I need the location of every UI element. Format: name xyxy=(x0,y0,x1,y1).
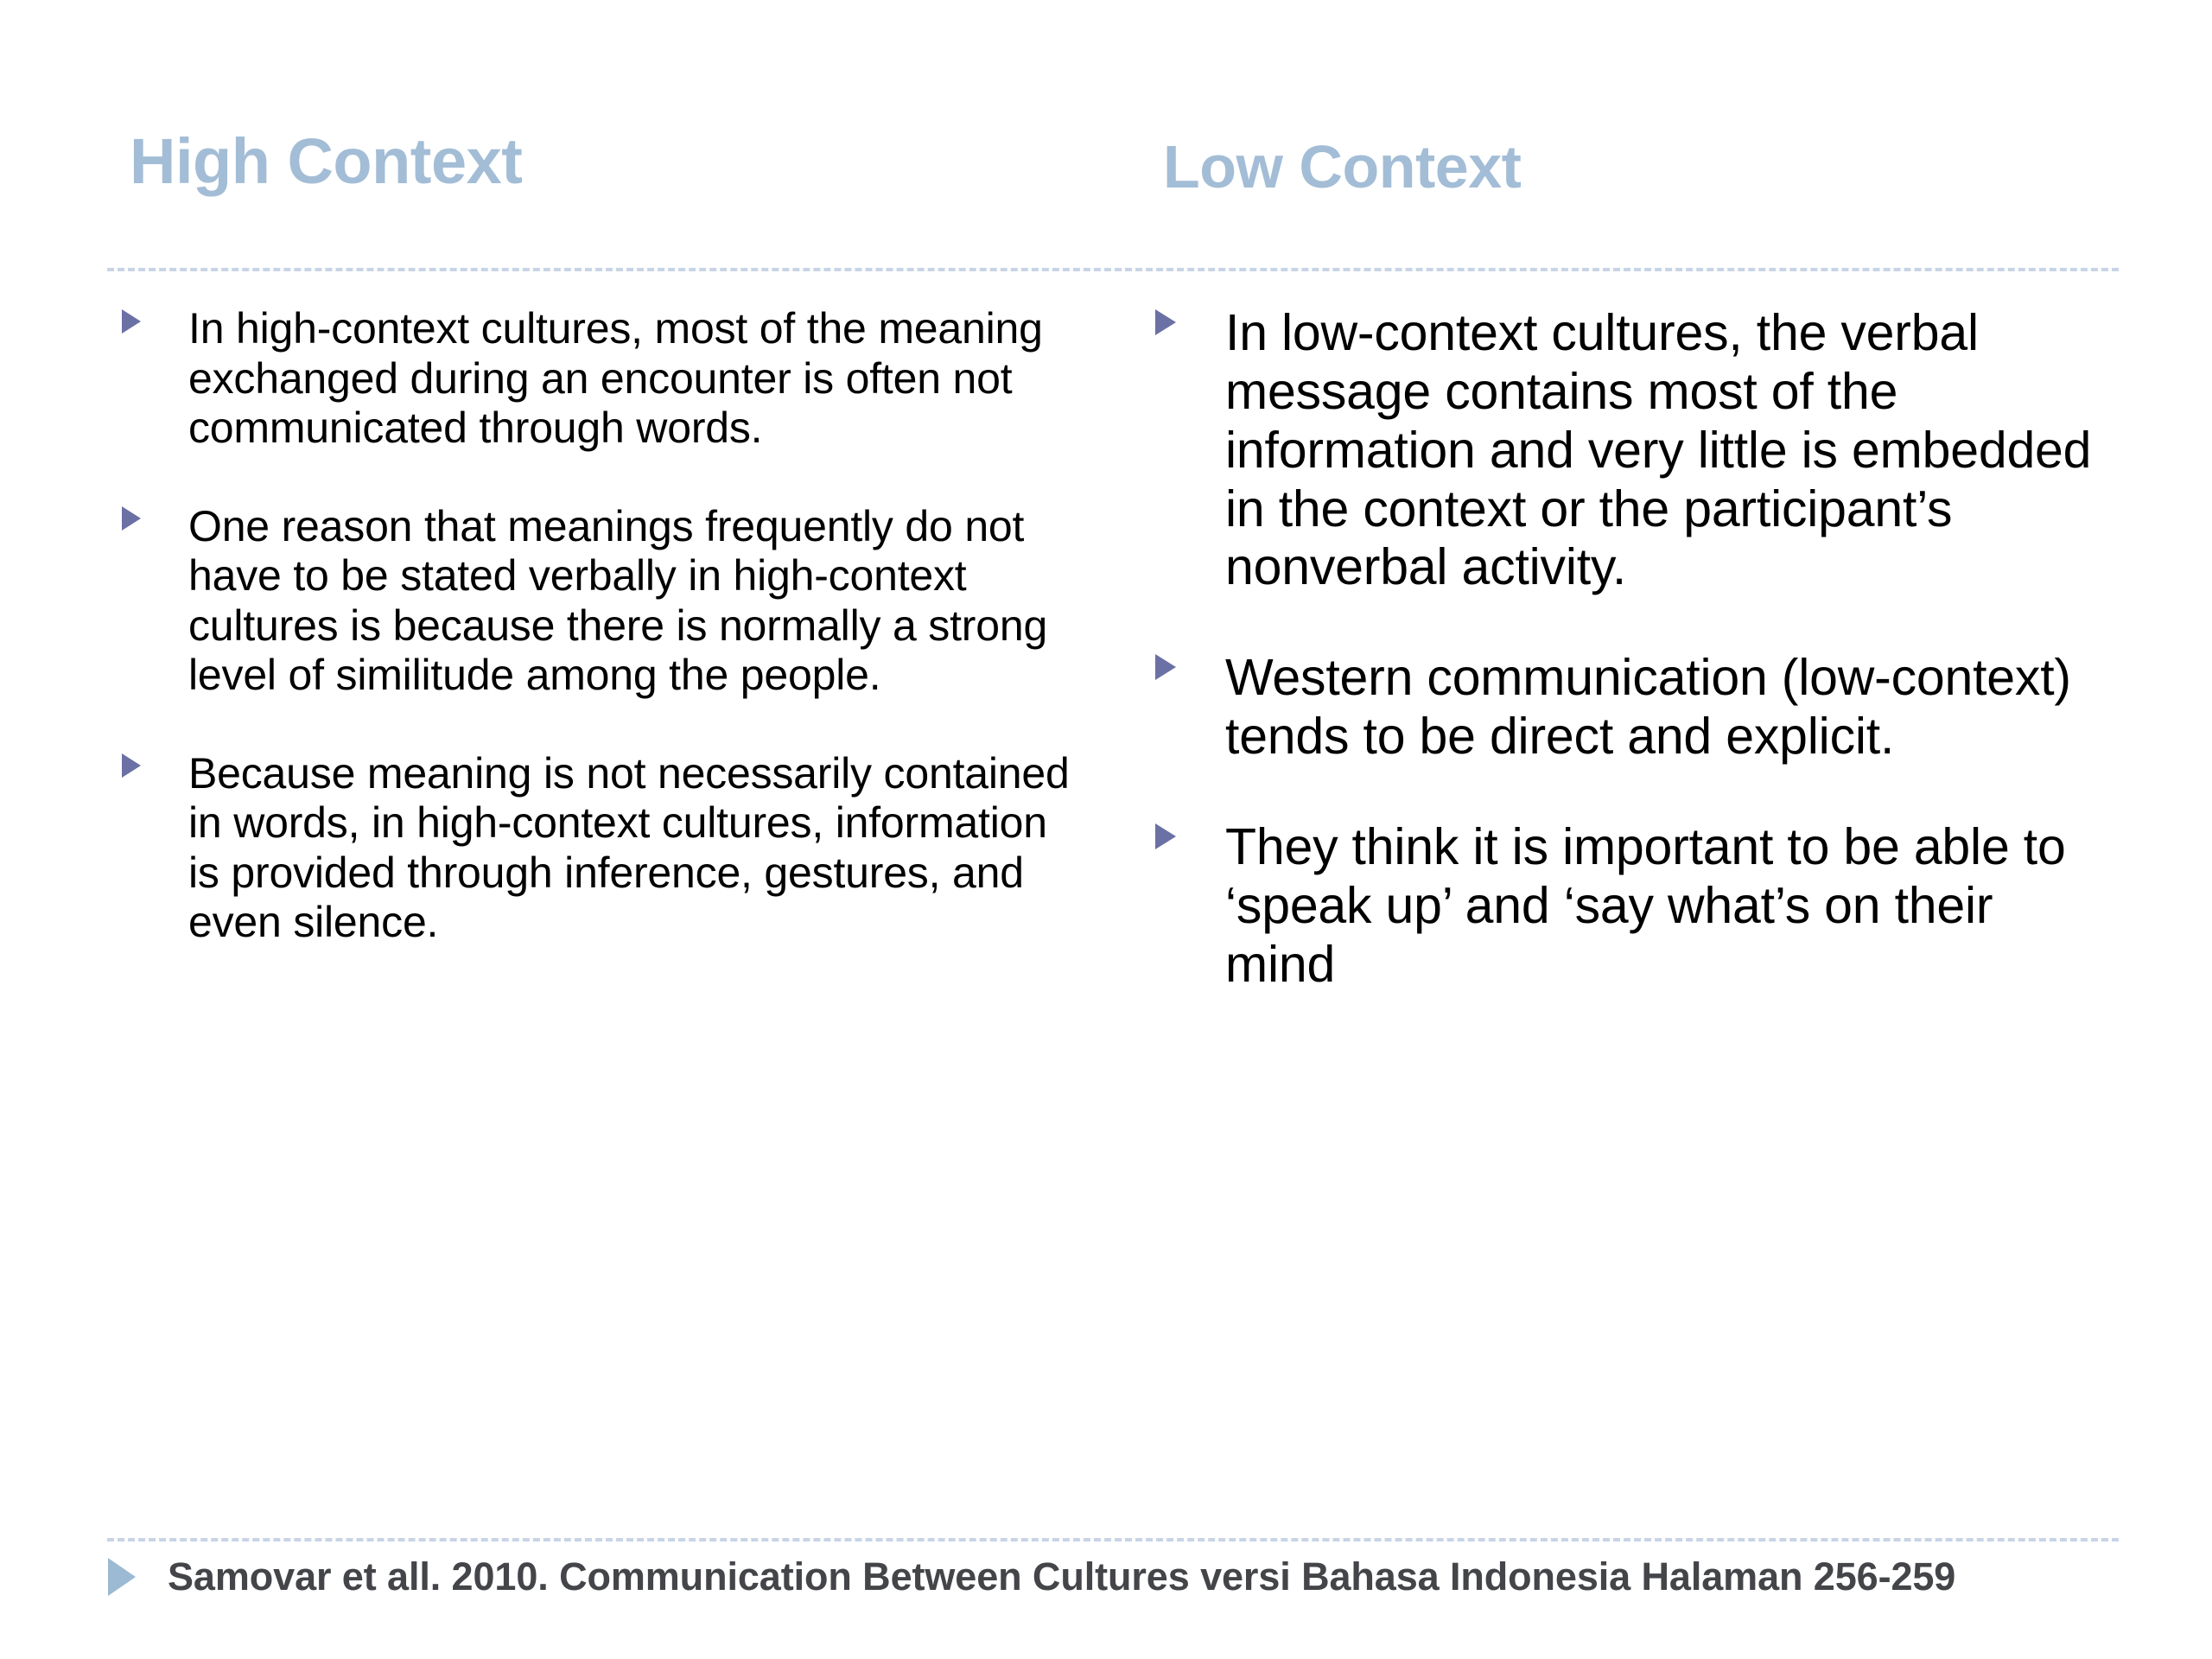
list-item-text: One reason that meanings frequently do n… xyxy=(188,502,1078,701)
list-item: In high-context cultures, most of the me… xyxy=(121,304,1123,454)
triangle-bullet-icon xyxy=(107,1557,137,1597)
low-context-bullet-list: In low-context cultures, the verbal mess… xyxy=(1154,304,2122,1046)
triangle-bullet-icon xyxy=(121,308,142,334)
bottom-divider-line xyxy=(107,1538,2119,1541)
column-heading-low-context: Low Context xyxy=(1163,137,1521,197)
footer-citation: Samovar et all. 2010. Communication Betw… xyxy=(107,1555,2146,1599)
high-context-bullet-list: In high-context cultures, most of the me… xyxy=(121,304,1123,996)
triangle-bullet-icon xyxy=(121,753,142,779)
triangle-bullet-icon xyxy=(1154,653,1177,681)
triangle-bullet-icon xyxy=(121,505,142,531)
list-item-text: Because meaning is not necessarily conta… xyxy=(188,749,1078,948)
list-item: One reason that meanings frequently do n… xyxy=(121,502,1123,701)
column-heading-high-context: High Context xyxy=(130,130,522,194)
list-item-text: Western communication (low-context) tend… xyxy=(1225,649,2107,766)
list-item: They think it is important to be able to… xyxy=(1154,818,2122,995)
list-item: In low-context cultures, the verbal mess… xyxy=(1154,304,2122,597)
top-divider-line xyxy=(107,268,2119,271)
triangle-bullet-icon xyxy=(1154,308,1177,336)
slide-canvas: High Context Low Context In high-context… xyxy=(0,0,2212,1659)
list-item-text: In low-context cultures, the verbal mess… xyxy=(1225,304,2107,597)
triangle-bullet-icon xyxy=(1154,823,1177,850)
footer-citation-text: Samovar et all. 2010. Communication Betw… xyxy=(168,1555,1955,1599)
list-item-text: They think it is important to be able to… xyxy=(1225,818,2107,995)
list-item: Western communication (low-context) tend… xyxy=(1154,649,2122,766)
list-item: Because meaning is not necessarily conta… xyxy=(121,749,1123,948)
list-item-text: In high-context cultures, most of the me… xyxy=(188,304,1078,454)
